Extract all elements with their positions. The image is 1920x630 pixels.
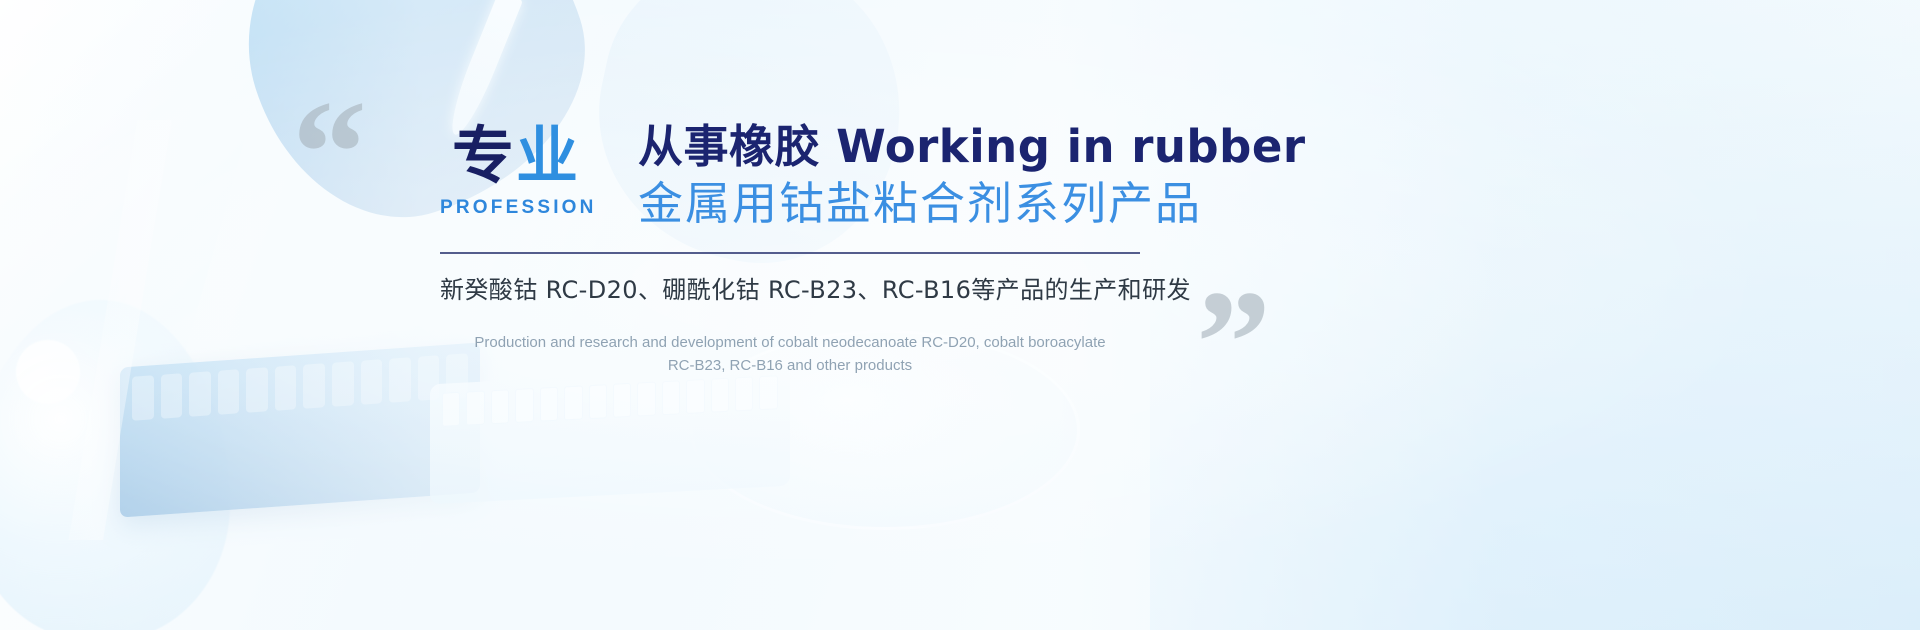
profession-logo: 专业 PROFESSION <box>440 118 592 219</box>
headline-row: 专业 PROFESSION 从事橡胶 Working in rubber 金属用… <box>440 118 1180 236</box>
headline-line-2: 金属用钴盐粘合剂系列产品 <box>638 177 1306 231</box>
headline-line-1: 从事橡胶 Working in rubber <box>638 120 1306 173</box>
headline-group: 从事橡胶 Working in rubber 金属用钴盐粘合剂系列产品 <box>638 118 1306 231</box>
product-subline: 新癸酸钴 RC-D20、硼酰化钴 RC-B23、RC-B16等产品的生产和研发 <box>440 270 1140 305</box>
logo-char-zhuan: 专 <box>452 119 516 192</box>
logo-english-label: PROFESSION <box>440 197 592 219</box>
english-description: Production and research and development … <box>440 331 1140 378</box>
banner-content: 专业 PROFESSION 从事橡胶 Working in rubber 金属用… <box>440 118 1180 378</box>
horizontal-rule <box>440 252 1140 254</box>
quote-close-icon: ” <box>1196 268 1271 418</box>
quote-open-icon: “ <box>292 78 367 228</box>
logo-chinese-characters: 专业 <box>440 124 592 187</box>
promo-banner: “ ” 专业 PROFESSION 从事橡胶 Working in rubber… <box>0 0 1920 630</box>
logo-char-ye: 业 <box>516 119 580 192</box>
english-description-line-1: Production and research and development … <box>440 331 1140 354</box>
english-description-line-2: RC-B23, RC-B16 and other products <box>440 354 1140 377</box>
